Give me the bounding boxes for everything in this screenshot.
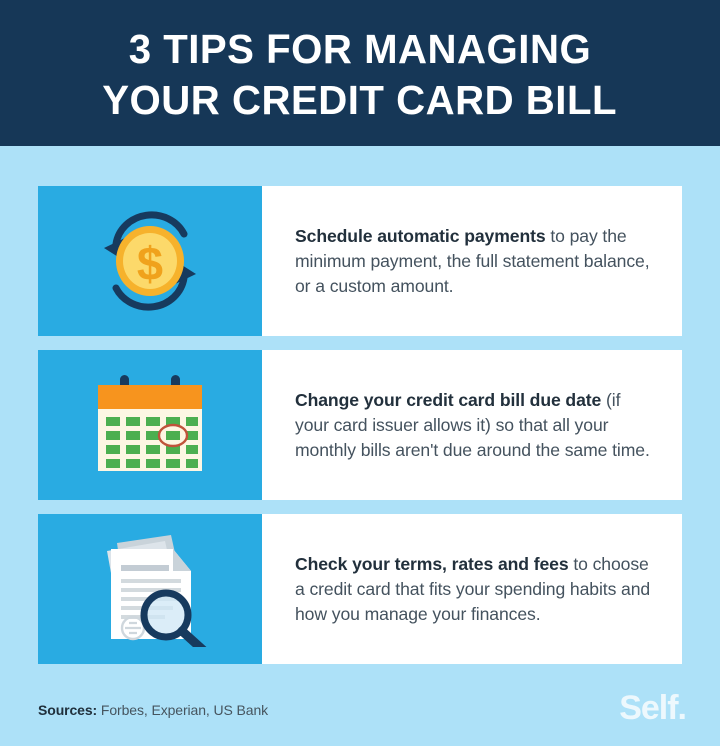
- tip-card-3-bold: Check your terms, rates and fees: [295, 554, 569, 574]
- self-logo: Self.: [619, 691, 686, 729]
- header-banner: 3 TIPS FOR MANAGING YOUR CREDIT CARD BIL…: [0, 0, 720, 146]
- tip-card-2-bold: Change your credit card bill due date: [295, 390, 601, 410]
- tips-list: $ Schedule automatic payments to pay the…: [0, 146, 720, 664]
- tip-card-1-text: Schedule automatic payments to pay the m…: [262, 186, 682, 336]
- page-title-line-1: 3 TIPS FOR MANAGING: [129, 24, 591, 75]
- tip-card-3-icon-panel: [38, 514, 262, 664]
- documents-magnifier-icon: [87, 531, 213, 647]
- tip-card-2-text: Change your credit card bill due date (i…: [262, 350, 682, 500]
- tip-card-3-text: Check your terms, rates and fees to choo…: [262, 514, 682, 664]
- tip-card-2: Change your credit card bill due date (i…: [38, 350, 682, 500]
- tip-card-1: $ Schedule automatic payments to pay the…: [38, 186, 682, 336]
- calendar-due-date-icon: [92, 371, 208, 479]
- tip-card-1-bold: Schedule automatic payments: [295, 226, 546, 246]
- sources-value: Forbes, Experian, US Bank: [97, 702, 268, 718]
- footer: Sources: Forbes, Experian, US Bank Self.: [0, 673, 720, 746]
- tip-card-1-icon-panel: $: [38, 186, 262, 336]
- page-title-line-2: YOUR CREDIT CARD BILL: [103, 75, 618, 126]
- sources-label: Sources:: [38, 702, 97, 718]
- tip-card-2-icon-panel: [38, 350, 262, 500]
- sources-line: Sources: Forbes, Experian, US Bank: [38, 702, 268, 718]
- recurring-payment-coin-icon: $: [91, 206, 209, 316]
- tip-card-3: Check your terms, rates and fees to choo…: [38, 514, 682, 664]
- svg-text:$: $: [137, 237, 163, 290]
